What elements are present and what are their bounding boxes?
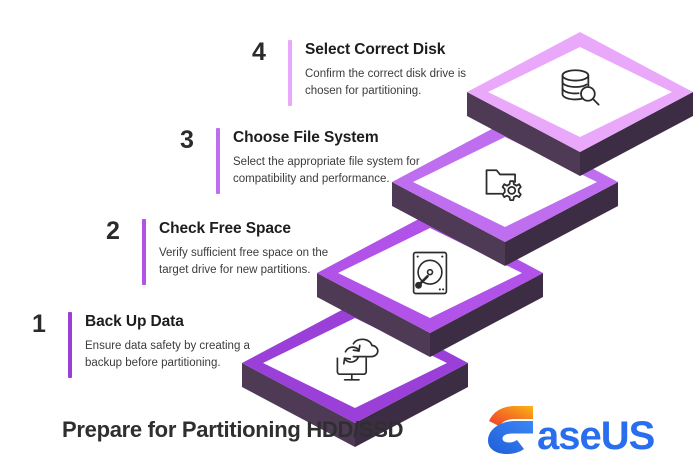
easeus-logo: aseUS [484, 404, 690, 456]
page-title: Prepare for Partitioning HDD/SSD [62, 418, 462, 442]
step-body-3: Choose File System Select the appropriat… [233, 128, 424, 187]
staircase-step-2 [317, 213, 543, 357]
step-description-3: Select the appropriate file system for c… [233, 154, 424, 187]
step-item-1: 1 Back Up Data Ensure data safety by cre… [26, 312, 276, 378]
step-body-4: Select Correct Disk Confirm the correct … [305, 40, 492, 99]
step-description-4: Confirm the correct disk drive is chosen… [305, 66, 492, 99]
step-number-2: 2 [100, 219, 126, 244]
step-accent-bar-3 [216, 128, 220, 194]
step-title-4: Select Correct Disk [305, 41, 492, 58]
step-item-2: 2 Check Free Space Verify sufficient fre… [100, 219, 350, 285]
step-title-1: Back Up Data [85, 313, 276, 330]
step-title-3: Choose File System [233, 129, 424, 146]
step-number-1: 1 [26, 312, 52, 337]
cloud-backup-monitor-icon [337, 339, 377, 380]
logo-mark-icon [488, 421, 533, 454]
staircase-step-3 [392, 122, 618, 266]
folder-gear-icon [487, 170, 521, 200]
logo-wordmark: aseUS [537, 414, 655, 456]
hard-disk-drive-icon [414, 253, 447, 294]
step-description-1: Ensure data safety by creating a backup … [85, 338, 276, 371]
step-accent-bar-1 [68, 312, 72, 378]
database-search-icon [563, 70, 599, 104]
step-item-3: 3 Choose File System Select the appropri… [174, 128, 424, 194]
step-accent-bar-2 [142, 219, 146, 285]
step-number-3: 3 [174, 128, 200, 153]
step-title-2: Check Free Space [159, 220, 350, 237]
step-item-4: 4 Select Correct Disk Confirm the correc… [246, 40, 492, 106]
staircase-step-4 [467, 32, 693, 176]
step-description-2: Verify sufficient free space on the targ… [159, 245, 350, 278]
step-number-4: 4 [246, 40, 272, 65]
infographic-canvas: 4 Select Correct Disk Confirm the correc… [0, 0, 700, 470]
step-body-1: Back Up Data Ensure data safety by creat… [85, 312, 276, 371]
step-accent-bar-4 [288, 40, 292, 106]
step-body-2: Check Free Space Verify sufficient free … [159, 219, 350, 278]
